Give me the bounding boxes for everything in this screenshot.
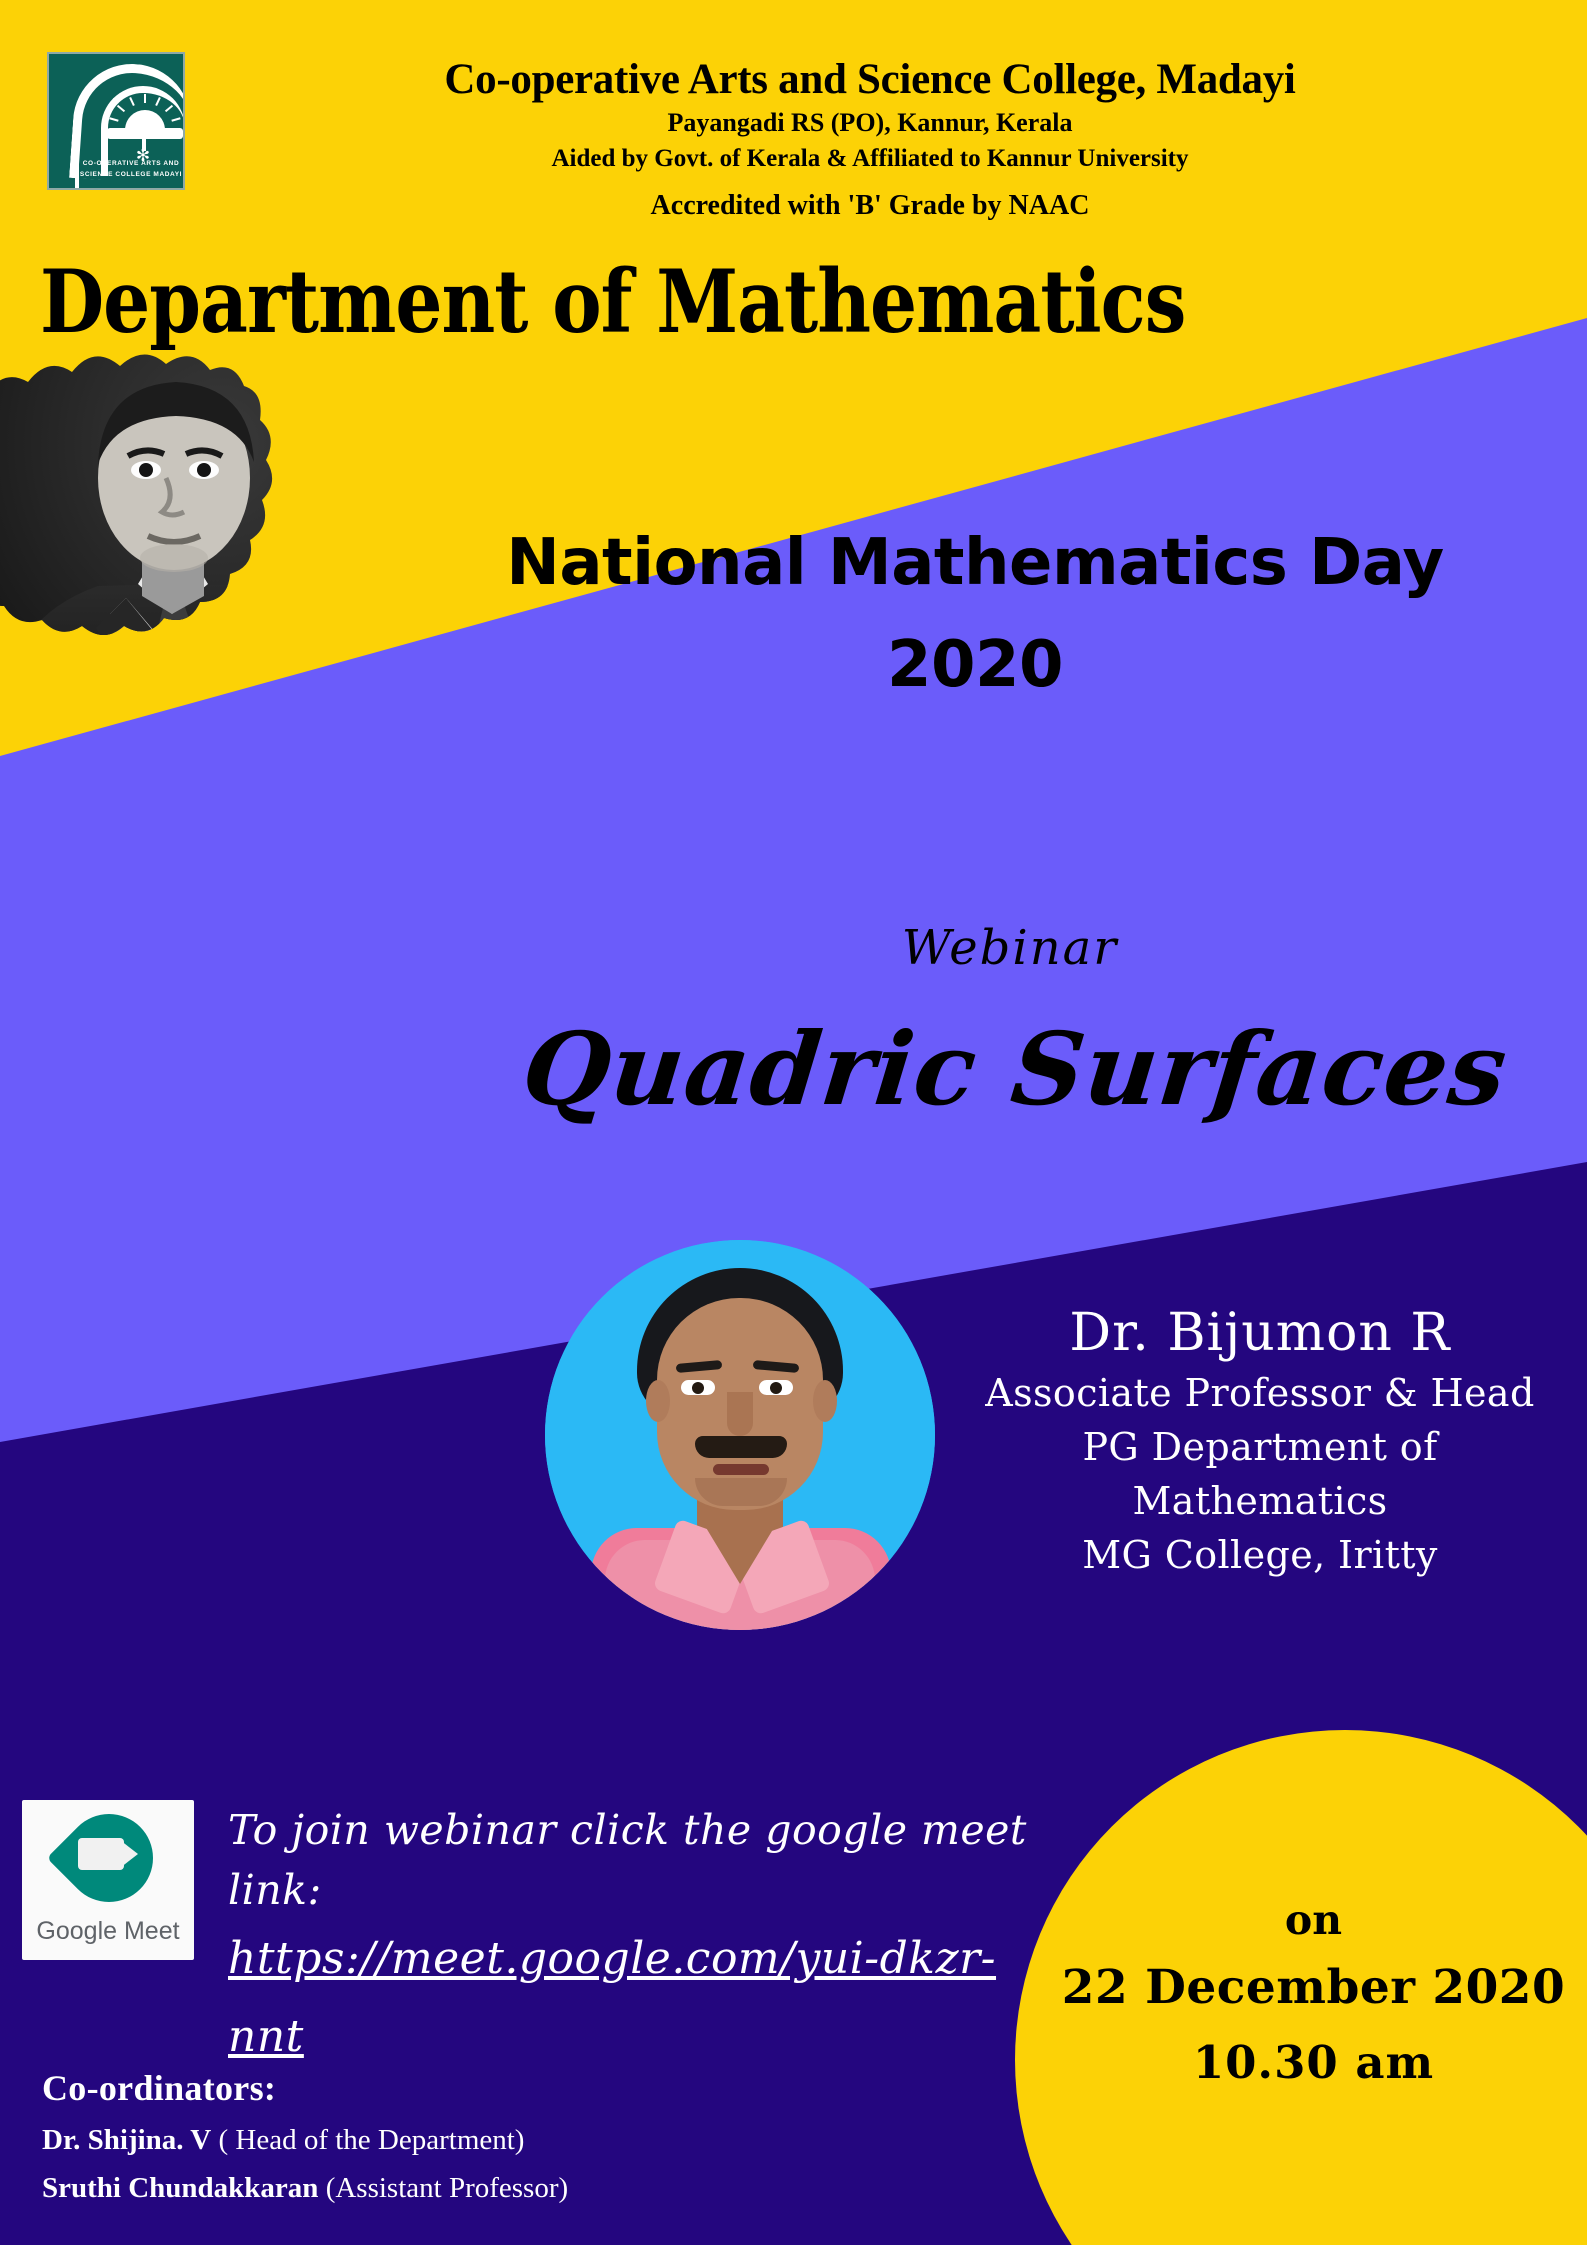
poster-canvas: ✻ CO-OPERATIVE ARTS AND SCIENCE COLLEGE … — [0, 0, 1587, 2245]
college-name: Co-operative Arts and Science College, M… — [210, 55, 1530, 105]
join-instructions: To join webinar click the google meet li… — [228, 1800, 1038, 2076]
avatar-eye-left — [681, 1380, 715, 1395]
coordinator-item: Sruthi Chundakkaran (Assistant Professor… — [42, 2164, 942, 2212]
avatar-mouth — [713, 1464, 769, 1475]
college-header: Co-operative Arts and Science College, M… — [210, 55, 1530, 227]
logo-text-line1: CO-OPERATIVE ARTS AND — [79, 158, 183, 169]
event-title-line2: 2020 — [370, 614, 1580, 716]
logo-text-line2: SCIENCE COLLEGE MADAYI — [79, 169, 183, 180]
join-instruction-text: To join webinar click the google meet li… — [228, 1800, 1038, 1920]
event-title-line1: National Mathematics Day — [370, 512, 1580, 614]
logo-sun-ray-icon — [144, 94, 146, 103]
coordinators-block: Co-ordinators: Dr. Shijina. V ( Head of … — [42, 2060, 942, 2212]
avatar-nose — [727, 1392, 753, 1436]
college-accreditation: Accredited with 'B' Grade by NAAC — [210, 185, 1530, 227]
google-meet-logo: Google Meet — [22, 1800, 194, 1960]
schedule-time: 10.30 am — [1040, 2026, 1587, 2100]
schedule-date: 22 December 2020 — [1040, 1950, 1587, 2026]
event-title: National Mathematics Day 2020 — [370, 512, 1580, 716]
speaker-name: Dr. Bijumon R — [950, 1300, 1570, 1366]
coordinator-role: (Assistant Professor) — [326, 2172, 568, 2204]
avatar-moustache — [695, 1436, 787, 1458]
speaker-designation: Associate Professor & Head — [950, 1366, 1570, 1420]
coordinator-name: Dr. Shijina. V — [42, 2124, 211, 2156]
speaker-avatar — [545, 1240, 935, 1630]
college-affiliation: Aided by Govt. of Kerala & Affiliated to… — [210, 141, 1530, 177]
speaker-details: Dr. Bijumon R Associate Professor & Head… — [950, 1300, 1570, 1582]
avatar-ear-right — [813, 1380, 837, 1422]
coordinators-heading: Co-ordinators: — [42, 2060, 942, 2116]
speaker-institution: MG College, Iritty — [950, 1528, 1570, 1582]
avatar-pupil-right — [770, 1382, 782, 1394]
college-logo: ✻ CO-OPERATIVE ARTS AND SCIENCE COLLEGE … — [47, 52, 185, 190]
webinar-label: Webinar — [560, 920, 1460, 976]
coordinator-item: Dr. Shijina. V ( Head of the Department) — [42, 2116, 942, 2164]
coordinator-name: Sruthi Chundakkaran — [42, 2172, 318, 2204]
schedule-block: on 22 December 2020 10.30 am — [1040, 1890, 1587, 2100]
meet-camera-icon — [78, 1838, 124, 1870]
avatar-eye-right — [759, 1380, 793, 1395]
coordinator-role: ( Head of the Department) — [218, 2124, 524, 2156]
avatar-pupil-left — [692, 1382, 704, 1394]
meet-camera-lens-icon — [120, 1840, 138, 1868]
speaker-department: PG Department of Mathematics — [950, 1420, 1570, 1528]
college-address: Payangadi RS (PO), Kannur, Kerala — [210, 105, 1530, 141]
avatar-ear-left — [646, 1380, 670, 1422]
avatar-chin — [695, 1478, 787, 1506]
department-title: Department of Mathematics — [40, 252, 1185, 353]
schedule-preposition: on — [1040, 1890, 1587, 1950]
webinar-title: Quadric Surfaces — [464, 1010, 1566, 1128]
logo-base-icon — [107, 128, 183, 139]
ramanujan-portrait — [0, 352, 370, 772]
meet-label: Google Meet — [22, 1917, 194, 1946]
logo-text: CO-OPERATIVE ARTS AND SCIENCE COLLEGE MA… — [79, 158, 183, 180]
meet-link[interactable]: https://meet.google.com/yui-dkzr-nnt — [228, 1920, 1038, 2076]
